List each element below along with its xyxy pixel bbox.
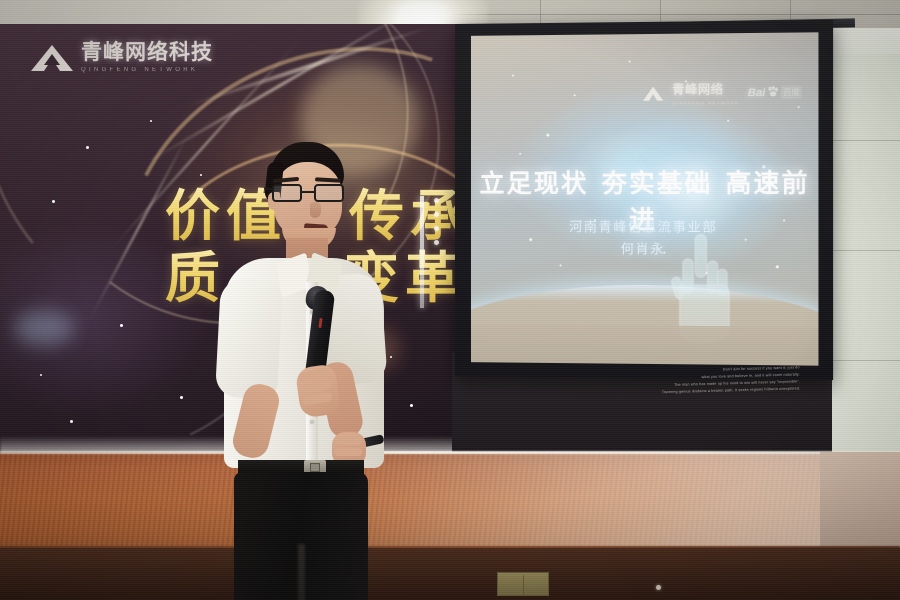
presenter-sleeve-left	[215, 276, 283, 399]
slide-starfield	[471, 32, 818, 36]
baidu-paw-icon	[767, 83, 778, 101]
banner-company-name-cn: 青峰网络科技	[81, 42, 213, 63]
stage-back-highlight	[0, 451, 900, 454]
banner-vertical-divider	[420, 196, 424, 308]
slide-title-part-1: 立足现状	[479, 170, 588, 198]
ceiling-light-core	[398, 6, 444, 26]
slide-brand-cn: 青峰网络	[672, 82, 723, 97]
eyeglasses-icon	[272, 184, 346, 203]
slide-subtitle-department: 河南青峰信息流事业部	[471, 216, 818, 236]
baidu-brand-cn: 百度	[781, 86, 802, 99]
presenter	[216, 140, 406, 560]
banner-dot-column	[434, 198, 439, 245]
slide-title-part-2: 夯实基础	[602, 170, 713, 198]
baidu-wordmark: Bai	[748, 86, 766, 98]
slide-brand-en: QINGFENG NETWORK	[672, 100, 739, 105]
projection-screen-surface: 青峰网络 QINGFENG NETWORK Bai 百度	[471, 32, 818, 365]
metal-floor-plate-icon	[497, 572, 549, 596]
presenter-hand-holding-microphone	[295, 363, 342, 418]
floor-right-corner	[820, 452, 900, 548]
banner-company-name-en: QINGFENG NETWORK	[81, 67, 213, 73]
slide-bottom-band	[471, 324, 818, 366]
floor-screw-icon	[656, 585, 661, 590]
slide-logo-group: 青峰网络 QINGFENG NETWORK Bai 百度	[641, 79, 801, 105]
mountain-peak-logo-icon	[30, 43, 74, 73]
presenter-nose	[310, 202, 321, 218]
baidu-partner-logo: Bai 百度	[748, 83, 802, 102]
stage-front-panel	[0, 548, 900, 600]
projection-screen-frame: 青峰网络 QINGFENG NETWORK Bai 百度	[455, 20, 833, 380]
presenter-leg-separation	[298, 544, 305, 600]
slide-subtitle-presenter-name: 何肖永	[471, 238, 818, 258]
conference-photo-scene: 青峰网络科技 QINGFENG NETWORK 价值传承 质变革	[0, 0, 900, 600]
slide-mountain-peak-logo-icon	[641, 85, 664, 101]
banner-logo: 青峰网络科技 QINGFENG NETWORK	[30, 42, 213, 73]
